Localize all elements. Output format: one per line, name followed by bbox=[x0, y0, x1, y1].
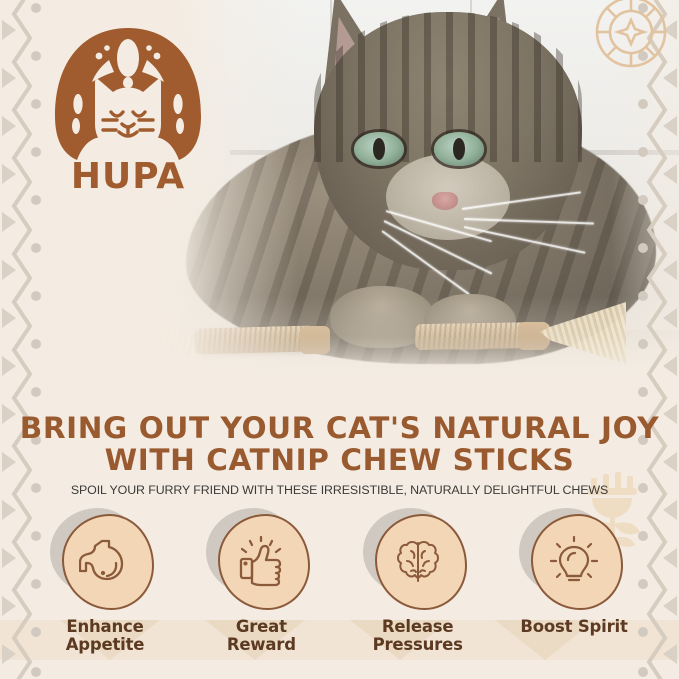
feature-release-pressures[interactable]: Release Pressures bbox=[343, 512, 493, 672]
logo-wordmark: HUPA bbox=[71, 156, 185, 190]
cat-pupil bbox=[453, 138, 465, 160]
feature-label: Great Reward bbox=[227, 618, 296, 654]
brand-logo: HUPA bbox=[47, 20, 209, 190]
headline-line-1: BRING OUT YOUR CAT'S NATURAL JOY bbox=[20, 411, 659, 445]
product-marketing-poster: HUPA BRING OUT YOUR CAT'S NATURAL JOY bbox=[0, 0, 679, 679]
feature-list: Enhance Appetite Great bbox=[30, 512, 649, 672]
catnip-chew-stick bbox=[195, 325, 316, 354]
page-title: BRING OUT YOUR CAT'S NATURAL JOY WITH CA… bbox=[0, 412, 679, 476]
lightbulb-icon bbox=[525, 512, 623, 610]
stomach-icon bbox=[56, 512, 154, 610]
catnip-stick-cap bbox=[300, 326, 330, 354]
thumbs-up-icon bbox=[212, 512, 310, 610]
cat-eye-left bbox=[354, 132, 404, 166]
feature-label: Release Pressures bbox=[373, 618, 463, 654]
feature-boost-spirit[interactable]: Boost Spirit bbox=[499, 512, 649, 672]
cat-eye-right bbox=[434, 132, 484, 166]
sunburst-mandala-icon bbox=[581, 0, 677, 88]
feature-label: Boost Spirit bbox=[520, 618, 627, 636]
feature-great-reward[interactable]: Great Reward bbox=[186, 512, 336, 672]
page-subtitle: SPOIL YOUR FURRY FRIEND WITH THESE IRRES… bbox=[0, 483, 679, 497]
feature-label: Enhance Appetite bbox=[66, 618, 145, 654]
headline-line-2: WITH CATNIP CHEW STICKS bbox=[0, 444, 679, 476]
brain-icon bbox=[369, 512, 467, 610]
catnip-stick-cap bbox=[518, 322, 548, 350]
cat-nose bbox=[432, 192, 458, 210]
cat-pupil bbox=[373, 138, 385, 160]
feature-enhance-appetite[interactable]: Enhance Appetite bbox=[30, 512, 180, 672]
